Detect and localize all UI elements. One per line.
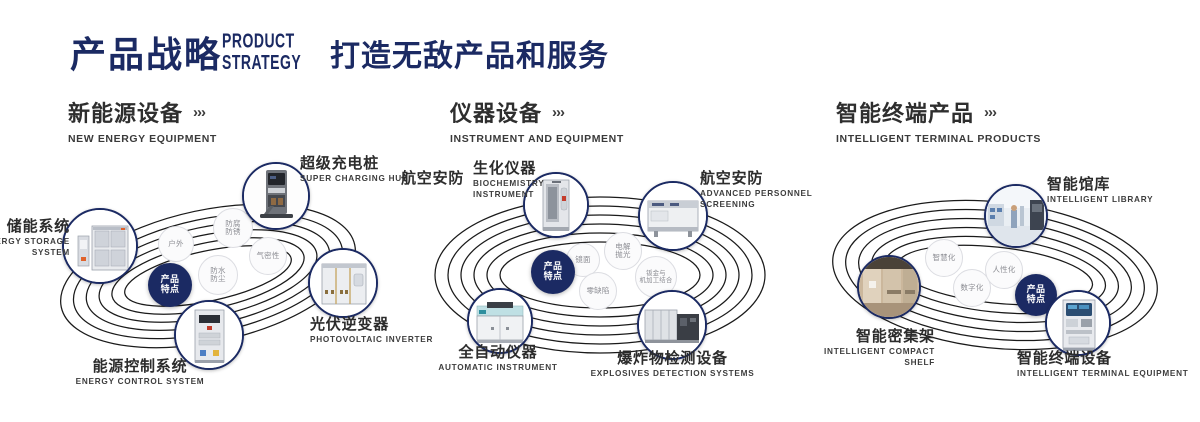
- library-room-icon: [986, 186, 1046, 246]
- feature-bubble: 防水 防尘: [198, 255, 238, 295]
- feature-bubble: 气密性: [249, 237, 287, 275]
- node-label-intelligent-compact-shelf: 智能密集架 INTELLIGENT COMPACT SHELF: [775, 328, 935, 368]
- node-label-intelligent-library: 智能馆库 INTELLIGENT LIBRARY: [1047, 176, 1177, 206]
- node-intelligent-terminal-equipment[interactable]: [1045, 290, 1111, 356]
- section-title-en: INSTRUMENT AND EQUIPMENT: [450, 133, 624, 145]
- chevron-right-icon: ›››: [984, 104, 996, 121]
- section-title-new-energy: 新能源设备››› NEW ENERGY EQUIPMENT: [68, 96, 217, 145]
- section-title-en: NEW ENERGY EQUIPMENT: [68, 133, 217, 145]
- core-bubble-line2: 特点: [544, 272, 563, 282]
- node-photovoltaic-inverter[interactable]: [308, 248, 378, 318]
- battery-cabinet-icon: [64, 210, 136, 282]
- node-label-intelligent-terminal-equipment: 智能终端设备 INTELLIGENT TERMINAL EQUIPMENT: [1017, 350, 1200, 380]
- section-title-cn: 智能终端产品: [836, 96, 974, 128]
- node-label-energy-control-system: 能源控制系统 ENERGY CONTROL SYSTEM: [50, 358, 230, 388]
- diagram-group-intelligent-terminal: 智慧化 数字化 人性化 产品 特点: [795, 150, 1200, 400]
- section-title-instrument: 仪器设备››› INSTRUMENT AND EQUIPMENT: [450, 96, 624, 145]
- section-title-cn: 仪器设备: [450, 96, 542, 128]
- diagram-group-instrument: 镜面 电解 抛光 零缺陷 钣金与 机加工结合 产品 特点 航空安防: [395, 150, 805, 400]
- feature-bubble: 智慧化: [925, 239, 963, 277]
- pv-inverter-icon: [310, 250, 376, 316]
- page-header: 产品战略 PRODUCT STRATEGY 打造无敌产品和服务: [0, 0, 1200, 88]
- node-advanced-personnel-screening[interactable]: [638, 181, 708, 251]
- chevron-right-icon: ›››: [552, 104, 564, 121]
- page-title-en-line1: PRODUCT: [222, 30, 312, 52]
- node-intelligent-library[interactable]: [984, 184, 1048, 248]
- product-strategy-infographic: 产品战略 PRODUCT STRATEGY 打造无敌产品和服务 新能源设备›››…: [0, 0, 1200, 422]
- compact-shelf-icon: [859, 257, 919, 317]
- feature-bubble: 户外: [158, 226, 194, 262]
- node-label-explosives-detection-systems: 爆炸物检测设备 EXPLOSIVES DETECTION SYSTEMS: [580, 350, 765, 380]
- core-bubble-line2: 特点: [161, 285, 180, 295]
- core-bubble-line1: 产品: [1027, 285, 1046, 295]
- node-label-automatic-instrument: 全自动仪器 AUTOMATIC INSTRUMENT: [413, 344, 583, 374]
- core-bubble-product-features: 产品 特点: [148, 263, 192, 307]
- feature-bubble: 电解 抛光: [604, 232, 642, 270]
- node-energy-storage-system[interactable]: [62, 208, 138, 284]
- section-title-cn: 新能源设备: [68, 96, 183, 128]
- node-label-biochemistry-instrument: 生化仪器 BIOCHEMISTRY INSTRUMENT: [473, 160, 583, 200]
- diagram-group-new-energy: 户外 防腐 防锈 防水 防尘 气密性 产品 特点: [0, 150, 420, 400]
- charging-pile-icon: [244, 164, 308, 228]
- chevron-right-icon: ›››: [193, 104, 205, 121]
- core-bubble-line2: 特点: [1027, 295, 1046, 305]
- feature-bubble: 零缺陷: [579, 272, 617, 310]
- page-slogan: 打造无敌产品和服务: [330, 31, 609, 75]
- node-label-energy-storage-system: 储能系统 ENERGY STORAGE SYSTEM: [0, 218, 70, 258]
- section-title-intelligent-terminal: 智能终端产品››› INTELLIGENT TERMINAL PRODUCTS: [836, 96, 1041, 145]
- node-intelligent-compact-shelf[interactable]: [857, 255, 921, 319]
- core-bubble-product-features: 产品 特点: [531, 250, 575, 294]
- page-title-en-line2: STRATEGY: [222, 52, 312, 74]
- page-title-cn: 产品战略: [70, 26, 222, 78]
- page-title-en: PRODUCT STRATEGY: [222, 30, 312, 74]
- core-bubble-line1: 产品: [544, 262, 563, 272]
- section-title-en: INTELLIGENT TERMINAL PRODUCTS: [836, 133, 1041, 145]
- terminal-kiosk-icon: [1047, 292, 1109, 354]
- screening-machine-icon: [640, 183, 706, 249]
- core-bubble-line1: 产品: [161, 275, 180, 285]
